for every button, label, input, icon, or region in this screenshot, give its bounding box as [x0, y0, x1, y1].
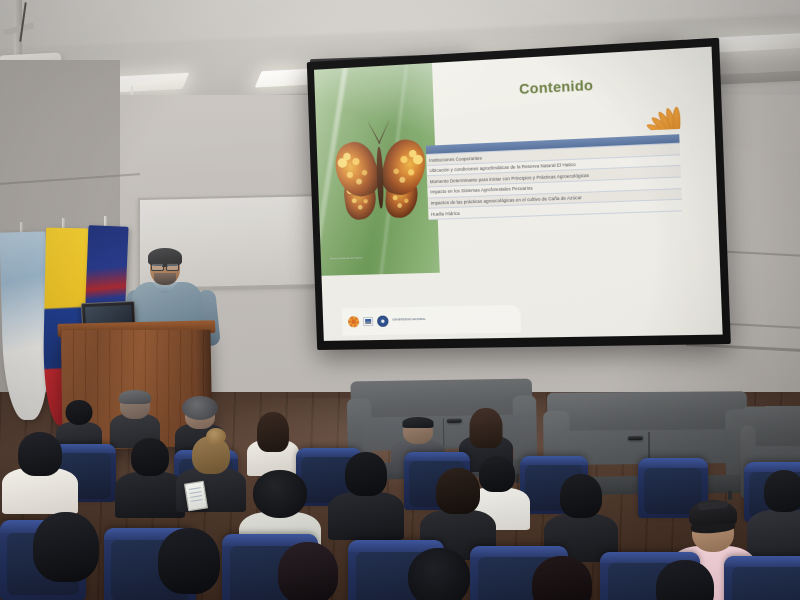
- attendee-front-row-left: [24, 512, 108, 600]
- glasses-icon: [151, 263, 179, 269]
- person-hair: [158, 528, 220, 594]
- presentation-slide: Reserva Natural El Hatico Contenido Inst…: [314, 47, 723, 341]
- presenter-beard: [154, 273, 176, 285]
- person-hair: [33, 512, 99, 582]
- attendee-has-notebook: [428, 468, 488, 546]
- person-hair: [560, 474, 602, 518]
- attendee-front-left-2: [552, 474, 610, 550]
- person-hair: [764, 470, 800, 512]
- person-hair: [66, 400, 93, 425]
- person-hair: [403, 417, 434, 428]
- person-hair: [18, 432, 62, 476]
- photo-light-haze: [314, 63, 440, 276]
- university-seal-logo-icon: [377, 315, 389, 326]
- attendee-front-row-far-right: [648, 560, 722, 600]
- person-body: [115, 472, 185, 518]
- attendee-dark-shirt: [122, 438, 178, 510]
- attendee-bottom-center: [336, 452, 396, 528]
- notebook: [184, 481, 208, 512]
- person-hair: [532, 556, 592, 600]
- microphone-icon: [446, 419, 461, 423]
- attendee-front-row-right: [524, 556, 600, 600]
- slide-photo-butterfly: Reserva Natural El Hatico: [314, 63, 440, 276]
- sofa-leg: [728, 491, 732, 500]
- slide-contents-table: Instituciones Cooperantes Ubicación y co…: [426, 135, 683, 220]
- university-logo-text: UNIVERSIDAD NACIONAL: [392, 318, 425, 322]
- sunflower-logo-icon: [348, 316, 359, 327]
- slide-logo-strip: UNIVERSIDAD NACIONAL: [341, 304, 521, 335]
- attendee-front-row-center-right: [400, 548, 478, 600]
- person-hair: [253, 470, 307, 518]
- person-hair: [131, 438, 169, 476]
- person-hair: [656, 560, 714, 600]
- institution-logo-icon: [363, 316, 373, 325]
- screen-surface: Reserva Natural El Hatico Contenido Inst…: [314, 47, 723, 341]
- person-hair-bun: [206, 428, 226, 445]
- person-body: [747, 510, 800, 560]
- person-hair: [119, 390, 151, 404]
- auditorium-seat: [724, 556, 800, 600]
- attendee-long-hair: [250, 412, 296, 472]
- person-hair: [408, 548, 470, 600]
- attendee-front-left: [10, 432, 70, 506]
- person-hair: [470, 408, 503, 448]
- attendee-back-glasses: [112, 392, 158, 444]
- attendee-front-row-center: [270, 542, 346, 600]
- person-hair: [257, 412, 289, 452]
- person-hair: [436, 468, 480, 514]
- person-hair: [278, 542, 338, 600]
- projection-screen: Reserva Natural El Hatico Contenido Inst…: [307, 38, 731, 350]
- person-hair: [182, 396, 218, 420]
- microphone-icon: [628, 436, 643, 440]
- person-hair: [345, 452, 387, 496]
- attendee-front-row-center-left: [150, 528, 228, 600]
- attendee-far-right: [756, 470, 800, 548]
- person-body: [328, 492, 404, 540]
- auditorium-photograph: Reserva Natural El Hatico Contenido Inst…: [0, 0, 800, 600]
